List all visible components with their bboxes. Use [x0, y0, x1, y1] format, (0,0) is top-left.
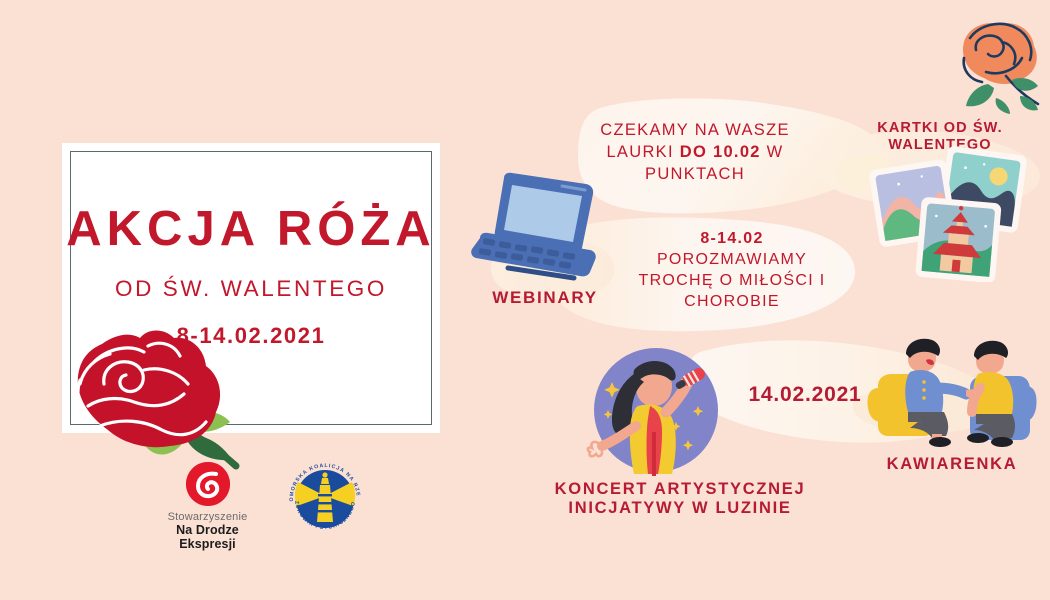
spiral-logo-mark-icon	[186, 462, 230, 506]
poster-canvas: AKCJA RÓŻA OD ŚW. WALENTEGO 8-14.02.2021	[0, 0, 1050, 600]
bubble-laurki: CZEKAMY NA WASZE LAURKI DO 10.02 W PUNKT…	[580, 120, 810, 185]
section-label-koncert: KONCERT ARTYSTYCZNEJ INICJATYWY W LUZINI…	[540, 480, 820, 519]
koncert-label-line2: INICJATYWY W LUZINIE	[568, 499, 791, 517]
bubble-rozmowy-line3: TROCHĘ O MIŁOŚCI I	[639, 272, 826, 289]
two-people-talking-illustration	[862, 326, 1042, 456]
section-label-webinary: WEBINARY	[470, 288, 620, 308]
red-rose-icon	[44, 310, 244, 470]
koncert-label-line1: KONCERT ARTYSTYCZNEJ	[555, 480, 806, 498]
page-title: AKCJA RÓŻA	[62, 205, 440, 254]
laptop-illustration	[470, 172, 600, 284]
bubble-laurki-line2-post: W	[761, 143, 784, 161]
orange-rose-icon	[928, 14, 1048, 114]
bubble-laurki-line2-pre: LAURKI	[606, 143, 679, 161]
bubble-rozmowy-line4: CHOROBIE	[684, 293, 780, 310]
bubble-rozmowy: 8-14.02 POROZMAWIAMY TROCHĘ O MIŁOŚCI I …	[612, 228, 852, 312]
kawiarenka-date: 14.02.2021	[740, 383, 870, 408]
card-subtitle: OD ŚW. WALENTEGO	[62, 278, 440, 301]
bubble-laurki-line1: CZEKAMY NA WASZE	[600, 121, 790, 139]
bubble-laurki-line2-strong: DO 10.02	[680, 143, 761, 161]
bubble-rozmowy-line2: POROZMAWIAMY	[657, 251, 807, 268]
logo-koalicja: POMORSKA KOALICJA NA RZECZ ZDROWIA PSYCH…	[282, 456, 368, 542]
logo-line-1: Stowarzyszenie	[150, 511, 265, 523]
bubble-rozmowy-line1: 8-14.02	[700, 230, 763, 247]
bubble-laurki-line3: PUNKTACH	[645, 165, 745, 183]
section-label-kawiarenka: KAWIARENKA	[862, 455, 1042, 474]
postcards-illustration	[862, 142, 1042, 282]
singer-illustration	[578, 340, 728, 490]
logo-line-2: Na Drodze Ekspresji	[150, 523, 265, 551]
logo-stowarzyszenie: Stowarzyszenie Na Drodze Ekspresji	[150, 462, 265, 551]
